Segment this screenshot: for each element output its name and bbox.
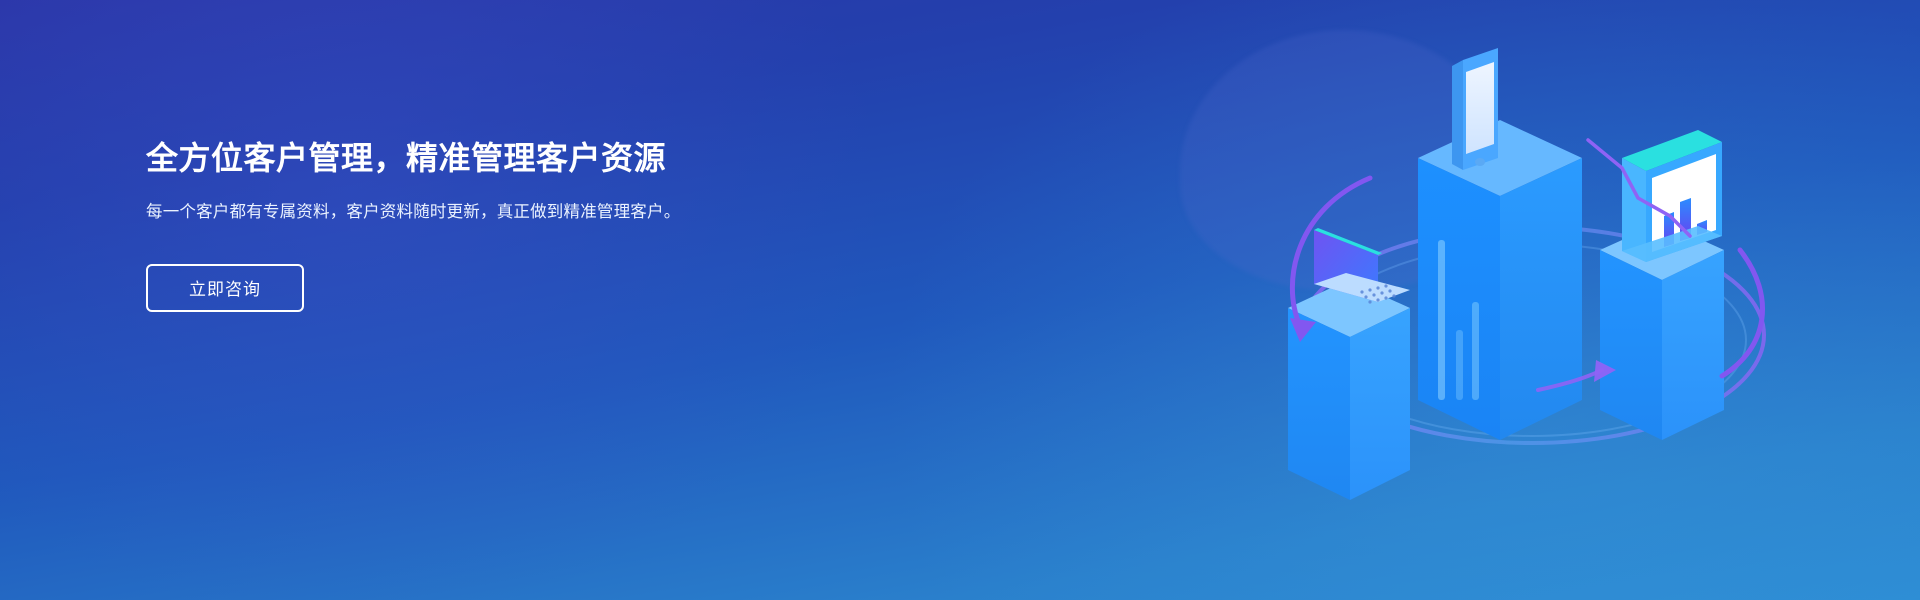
hero-copy-block: 全方位客户管理，精准管理客户资源 每一个客户都有专属资料，客户资料随时更新，真正… — [146, 138, 766, 312]
pedestal-left — [1288, 280, 1410, 500]
device-tablet-icon — [1452, 48, 1498, 170]
consult-now-button[interactable]: 立即咨询 — [146, 264, 304, 312]
hero-illustration — [1270, 40, 1790, 560]
pedestal-center — [1418, 120, 1582, 440]
hero-subcopy: 每一个客户都有专属资料，客户资料随时更新，真正做到精准管理客户。 — [146, 200, 726, 226]
page-title: 全方位客户管理，精准管理客户资源 — [146, 138, 766, 178]
hero-banner: 全方位客户管理，精准管理客户资源 每一个客户都有专属资料，客户资料随时更新，真正… — [0, 0, 1920, 600]
